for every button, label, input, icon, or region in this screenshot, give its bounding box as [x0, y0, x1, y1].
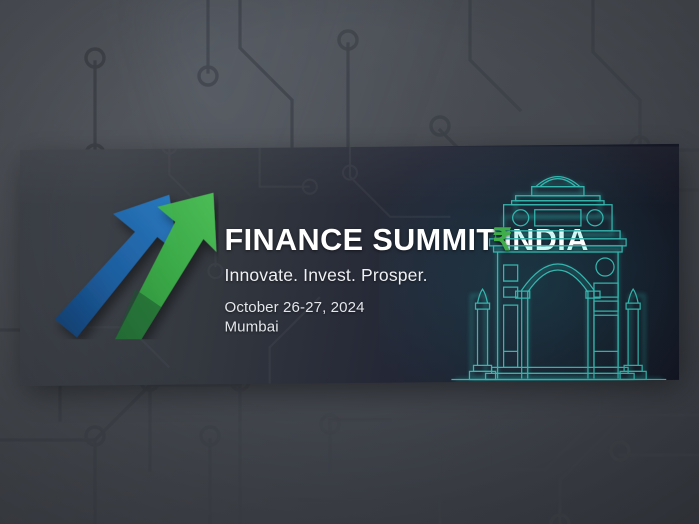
india-gate-line-layer: [451, 177, 666, 380]
rupee-symbol-icon: ₹: [492, 223, 512, 257]
india-gate-icon: [441, 155, 674, 384]
india-gate-glow-layer: [455, 178, 662, 380]
banner-card: FINANCE SUMMIT₹INDIA Innovate. Invest. P…: [20, 144, 679, 386]
dual-growth-arrows-logo: [53, 191, 219, 340]
